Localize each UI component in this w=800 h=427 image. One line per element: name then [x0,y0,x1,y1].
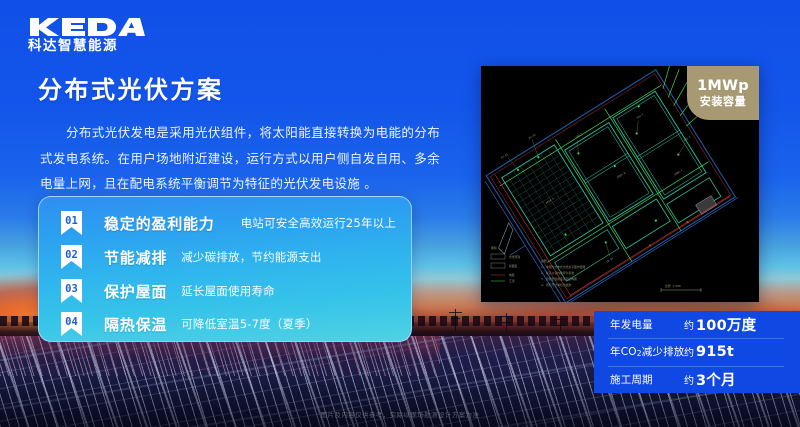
stat-value: 915t [696,344,734,360]
stats-panel: 年发电量 约 100万度 年CO2减少排放 约 915t 施工周期 约 3个月 [594,311,800,393]
feature-title: 保护屋面 [104,281,167,302]
stat-row: 施工周期 约 3个月 [594,366,800,393]
page-title: 分布式光伏方案 [38,76,224,105]
feature-item[interactable]: 04 隔热保温 可降低室温5-7度（夏季） [39,309,412,339]
pylon-icon [560,316,561,331]
capacity-label: 安装容量 [700,96,746,107]
stat-value: 3个月 [696,369,736,390]
svg-text:1. 本图为分布式光伏总平面布置图: 1. 本图为分布式光伏总平面布置图 [541,265,585,269]
stat-approx: 约 [684,372,694,387]
cad-site-plan-image: PV-01PV-02 INV-1INV-2 BOX-3CB-04 AREA-BA… [481,66,759,302]
svg-text:比例 1:500: 比例 1:500 [665,284,681,288]
svg-text:2. 标高以室内地坪为基准: 2. 标高以室内地坪为基准 [541,271,574,275]
svg-text:4. 所有尺寸单位为毫米: 4. 所有尺寸单位为毫米 [541,283,571,287]
feature-number: 04 [61,316,82,328]
footer-disclaimer: 图片及内容仅供参考，实际以现场勘测设计方案为准 [0,409,800,419]
feature-title: 节能减排 [104,247,167,268]
feature-desc: 可降低室温5-7度（夏季） [181,316,317,332]
ribbon-badge-icon: 01 [61,211,82,235]
feature-title: 隔热保温 [104,314,167,335]
svg-text:光伏阵列: 光伏阵列 [509,255,520,259]
pylon-icon [455,309,456,331]
svg-text:3. 组件安装角度详见结构图: 3. 组件安装角度详见结构图 [541,277,577,281]
ribbon-badge-icon: 04 [61,312,82,336]
feature-desc: 减少碳排放，节约能源支出 [181,249,321,265]
svg-text:屋面区: 屋面区 [509,264,518,268]
stat-row: 年CO2减少排放 约 915t [594,338,800,365]
intro-paragraph: 分布式光伏发电是采用光伏组件，将太阳能直接转换为电能的分布式发电系统。在用户场地… [40,120,440,197]
feature-item[interactable]: 02 节能减排 减少碳排放，节约能源支出 [39,242,412,272]
feature-desc: 延长屋面使用寿命 [181,283,275,299]
keda-logo-icon [28,16,146,38]
feature-number: 03 [61,283,82,295]
stat-label: 施工周期 [610,372,684,387]
slide-root: 科达智慧能源 分布式光伏方案 分布式光伏发电是采用光伏组件，将太阳能直接转换为电… [0,0,800,427]
stat-approx: 约 [684,344,694,359]
stat-approx: 约 [684,317,694,332]
brand-name-cn: 科达智慧能源 [28,40,146,54]
feature-item[interactable]: 01 稳定的盈利能力 电站可安全高效运行25年以上 [39,208,412,238]
pylon-icon [506,313,507,331]
feature-desc: 电站可安全高效运行25年以上 [241,215,396,231]
feature-number: 01 [61,215,82,227]
feature-item[interactable]: 03 保护屋面 延长屋面使用寿命 [39,276,412,306]
brand-logo: 科达智慧能源 [28,16,146,54]
ribbon-badge-icon: 02 [61,245,82,269]
stat-label: 年发电量 [610,317,684,332]
stat-row: 年发电量 约 100万度 [594,311,800,338]
stat-value: 100万度 [696,314,756,335]
feature-number: 02 [61,249,82,261]
ribbon-badge-icon: 03 [61,279,82,303]
feature-title: 稳定的盈利能力 [104,213,215,234]
svg-text:汇流: 汇流 [509,279,515,283]
capacity-value: 1MWp [697,79,749,94]
svg-text:电缆: 电缆 [509,273,515,277]
stat-label: 年CO2减少排放 [610,344,684,359]
feature-list-card: 01 稳定的盈利能力 电站可安全高效运行25年以上 02 节能减排 减少碳排放，… [38,196,412,342]
svg-text:图例: 图例 [491,246,497,250]
svg-text:说明：: 说明： [541,259,549,263]
capacity-badge: 1MWp 安装容量 [687,66,759,120]
